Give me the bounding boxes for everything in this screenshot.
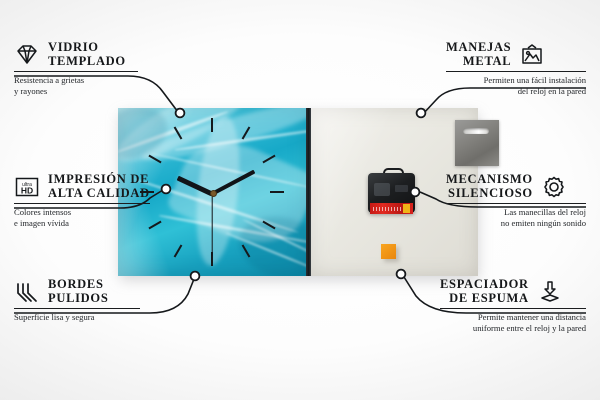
hand-center-cap [210,190,217,197]
feature-bordes-pulidos: BORDES PULIDOS Superficie lisa y segura [14,278,154,323]
feature-espaciador-espuma: ESPACIADOR DE ESPUMA Permite mantener un… [440,278,586,333]
title-underline [14,71,138,72]
title-underline [446,203,586,204]
feature-title: MANEJAS METAL [446,41,511,68]
feature-subtitle: Permiten una fácil instalación del reloj… [446,75,586,96]
title-underline [14,203,150,204]
tick-mark [174,126,183,139]
feature-subtitle: Permite mantener una distancia uniforme … [440,312,586,333]
tick-mark [270,191,284,193]
foam-spacer-pad [381,244,396,259]
second-hand [211,193,212,255]
feature-subtitle: Las manecillas del reloj no emiten ningú… [446,207,586,228]
minute-hand [211,169,255,195]
ultra-hd-icon: ultra HD [14,175,40,199]
feature-title: ESPACIADOR DE ESPUMA [440,278,529,305]
foam-spacer-arrow-icon [537,280,563,304]
feature-title: VIDRIO TEMPLADO [48,41,126,68]
tick-mark [262,155,275,164]
tick-mark [242,244,251,257]
clock-mechanism [368,168,415,213]
infographic-canvas: VIDRIO TEMPLADO Resistencia a grietas y … [0,0,600,400]
hour-hand [177,176,213,196]
feature-title: IMPRESIÓN DE ALTA CALIDAD [48,173,150,200]
tick-mark [242,126,251,139]
title-underline [440,308,586,309]
mechanism-detail [374,183,390,196]
feature-subtitle: Superficie lisa y segura [14,312,154,323]
mechanism-handle [383,168,404,179]
hanger-slot [463,128,489,134]
feature-impresion-alta-calidad: ultra HD IMPRESIÓN DE ALTA CALIDAD Color… [14,173,164,228]
tick-mark [174,244,183,257]
feature-title: BORDES PULIDOS [48,278,108,305]
tick-mark [148,155,161,164]
wall-frame-hanger-icon [519,43,545,67]
mechanism-detail [395,185,408,192]
feature-title: MECANISMO SILENCIOSO [446,173,533,200]
feature-subtitle: Colores intensos e imagen vívida [14,207,164,228]
title-underline [446,71,586,72]
mechanism-label [370,203,413,214]
title-underline [14,308,140,309]
tick-mark [262,221,275,230]
feature-subtitle: Resistencia a grietas y rayones [14,75,154,96]
diamond-icon [14,43,40,67]
polished-edges-icon [14,280,40,304]
ultra-hd-icon-bottom-text: HD [21,185,33,195]
tick-mark [211,118,213,132]
mechanism-label-text [373,207,401,211]
feature-manejas-metal: MANEJAS METAL Permiten una fácil instala… [446,41,586,96]
mechanism-body [368,173,415,213]
feature-vidrio-templado: VIDRIO TEMPLADO Resistencia a grietas y … [14,41,154,96]
feature-mecanismo-silencioso: MECANISMO SILENCIOSO Las manecillas del … [446,173,586,228]
metal-hanger-plate [455,120,499,166]
product-image [118,108,478,278]
gear-icon [541,175,567,199]
mechanism-chip [403,204,410,213]
